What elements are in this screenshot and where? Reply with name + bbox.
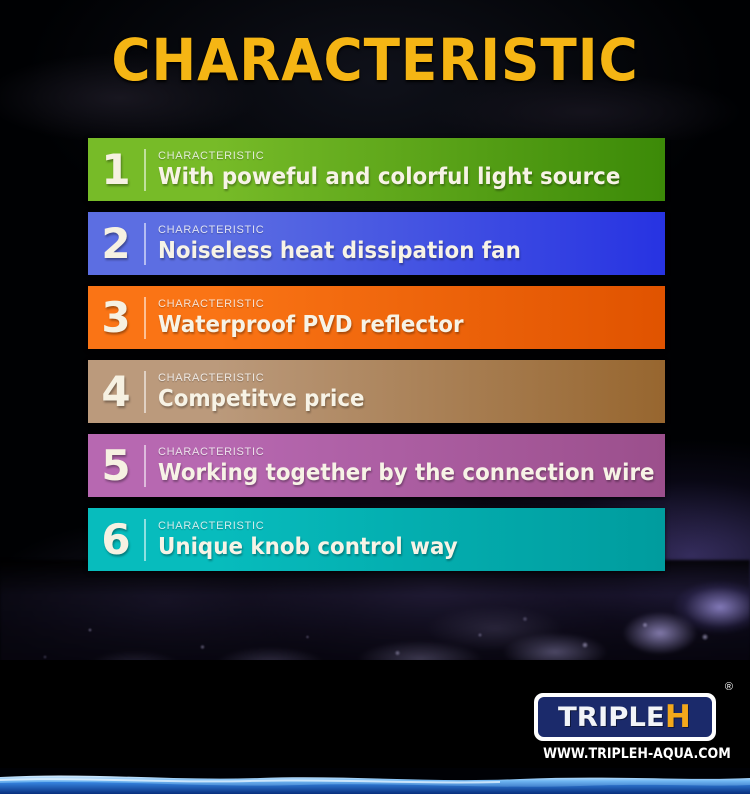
wave-svg bbox=[0, 768, 750, 794]
feature-title: Working together by the connection wire bbox=[158, 460, 620, 487]
feature-kicker: CHARACTERISTIC bbox=[158, 297, 655, 311]
feature-bar[interactable]: 1CHARACTERISTICWith poweful and colorful… bbox=[88, 138, 665, 201]
feature-title: Waterproof PVD reflector bbox=[158, 312, 620, 339]
registered-trademark-icon: ® bbox=[725, 682, 733, 693]
feature-number: 6 bbox=[88, 517, 144, 563]
feature-text-group: CHARACTERISTICWaterproof PVD reflector bbox=[158, 297, 665, 339]
feature-text-group: CHARACTERISTICCompetitve price bbox=[158, 371, 665, 413]
logo-plate: TRIPLE H bbox=[534, 693, 716, 741]
feature-bar[interactable]: 3CHARACTERISTICWaterproof PVD reflector bbox=[88, 286, 665, 349]
feature-number: 1 bbox=[88, 147, 144, 193]
feature-title: Noiseless heat dissipation fan bbox=[158, 238, 620, 265]
logo-inner: TRIPLE H bbox=[538, 697, 712, 737]
feature-title: Unique knob control way bbox=[158, 534, 620, 561]
product-feature-poster: CHARACTERISTIC 1CHARACTERISTICWith powef… bbox=[0, 0, 750, 794]
logo-text-h: H bbox=[665, 702, 691, 733]
feature-kicker: CHARACTERISTIC bbox=[158, 371, 655, 385]
feature-divider bbox=[144, 223, 146, 265]
feature-text-group: CHARACTERISTICUnique knob control way bbox=[158, 519, 665, 561]
feature-divider bbox=[144, 149, 146, 191]
feature-divider bbox=[144, 297, 146, 339]
feature-divider bbox=[144, 371, 146, 413]
feature-kicker: CHARACTERISTIC bbox=[158, 149, 655, 163]
feature-kicker: CHARACTERISTIC bbox=[158, 445, 655, 459]
brand-logo-block: ® TRIPLE H WWW.TRIPLEH-AQUA.COM bbox=[534, 684, 734, 762]
feature-list: 1CHARACTERISTICWith poweful and colorful… bbox=[88, 138, 665, 582]
feature-number: 3 bbox=[88, 295, 144, 341]
website-url: WWW.TRIPLEH-AQUA.COM bbox=[543, 746, 707, 762]
feature-text-group: CHARACTERISTICWorking together by the co… bbox=[158, 445, 665, 487]
feature-text-group: CHARACTERISTICWith poweful and colorful … bbox=[158, 149, 665, 191]
feature-title: Competitve price bbox=[158, 386, 620, 413]
feature-divider bbox=[144, 519, 146, 561]
feature-bar[interactable]: 5CHARACTERISTICWorking together by the c… bbox=[88, 434, 665, 497]
feature-bar[interactable]: 4CHARACTERISTICCompetitve price bbox=[88, 360, 665, 423]
feature-bar[interactable]: 6CHARACTERISTICUnique knob control way bbox=[88, 508, 665, 571]
feature-number: 4 bbox=[88, 369, 144, 415]
feature-title: With poweful and colorful light source bbox=[158, 164, 620, 191]
feature-kicker: CHARACTERISTIC bbox=[158, 223, 655, 237]
feature-bar[interactable]: 2CHARACTERISTICNoiseless heat dissipatio… bbox=[88, 212, 665, 275]
feature-divider bbox=[144, 445, 146, 487]
logo-text-triple: TRIPLE bbox=[558, 703, 665, 732]
feature-number: 5 bbox=[88, 443, 144, 489]
feature-kicker: CHARACTERISTIC bbox=[158, 519, 655, 533]
feature-number: 2 bbox=[88, 221, 144, 267]
page-title: CHARACTERISTIC bbox=[30, 30, 720, 90]
bottom-wave-graphic bbox=[0, 768, 750, 794]
feature-text-group: CHARACTERISTICNoiseless heat dissipation… bbox=[158, 223, 665, 265]
